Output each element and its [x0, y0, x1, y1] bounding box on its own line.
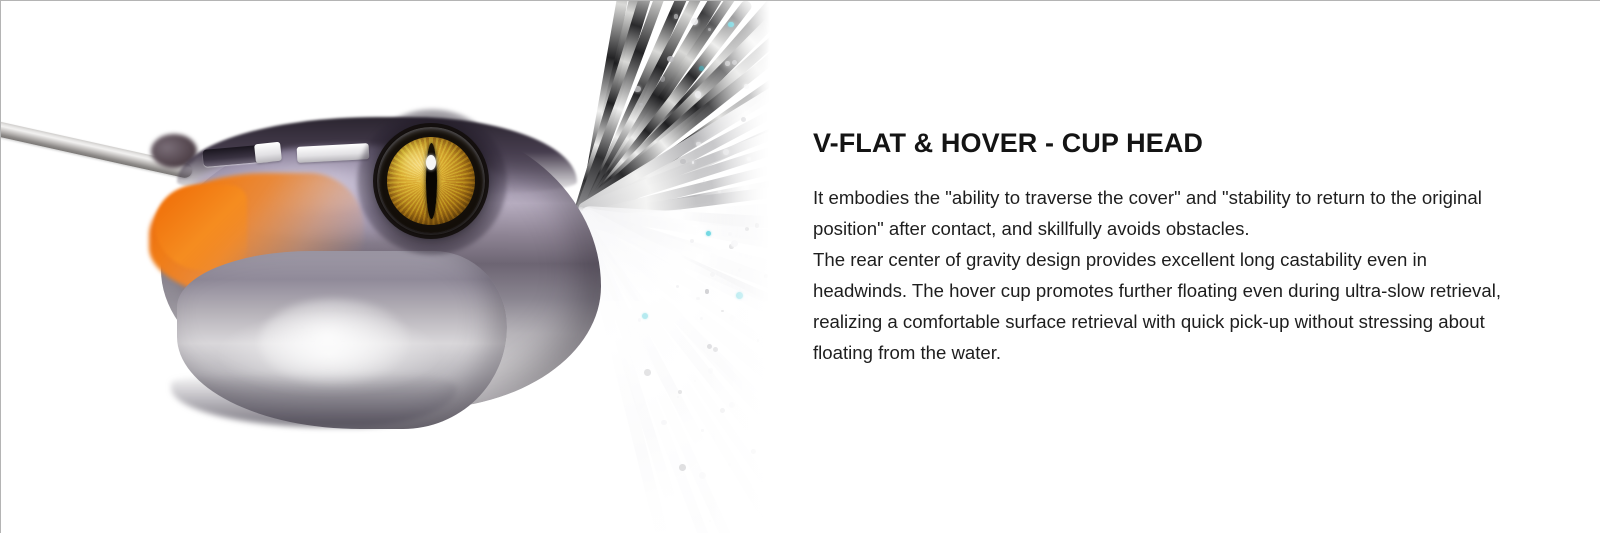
product-photo-stage — [1, 1, 786, 533]
skirt-silver-flake — [674, 14, 679, 19]
skirt-silver-flake — [751, 449, 756, 454]
head-vent-highlight — [254, 142, 282, 164]
page-title: V-FLAT & HOVER - CUP HEAD — [813, 129, 1600, 159]
skirt-silver-flake — [667, 56, 673, 62]
skirt-silver-flake — [744, 84, 749, 89]
skirt-silver-flake — [718, 190, 721, 193]
skirt-silver-flake — [747, 157, 751, 161]
skirt-silver-flake — [696, 142, 701, 147]
product-feature-section: V-FLAT & HOVER - CUP HEAD It embodies th… — [0, 0, 1600, 533]
cup-head-body — [151, 111, 621, 431]
skirt-teal-flake — [736, 292, 743, 299]
skirt-silver-flake — [638, 318, 642, 322]
skirt-silver-flake — [769, 444, 775, 450]
skirt-silver-flake — [678, 390, 682, 394]
description-paragraph-2: The rear center of gravity design provid… — [813, 244, 1518, 368]
skirt-silver-flake — [639, 103, 643, 107]
skirt-silver-flake — [701, 429, 704, 432]
skirt-teal-flake — [699, 66, 704, 71]
skirt-silver-flake — [699, 472, 706, 479]
skirt-silver-flake — [757, 339, 759, 341]
product-photo — [1, 1, 786, 533]
skirt-silver-flake — [660, 76, 665, 81]
skirt-silver-flake — [677, 396, 679, 398]
skirt-silver-flake — [707, 344, 712, 349]
skirt-silver-flake — [731, 240, 738, 247]
skirt-silver-flake — [738, 268, 742, 272]
skirt-silver-flake — [725, 61, 730, 66]
lure-eye — [379, 129, 483, 233]
skirt-silver-flake — [721, 310, 724, 313]
skirt-teal-flake — [728, 22, 734, 28]
description-paragraph-1: It embodies the "ability to traverse the… — [813, 182, 1518, 244]
skirt-silver-flake — [709, 520, 711, 522]
skirt-silver-flake — [710, 272, 715, 277]
skirt-silver-flake — [661, 420, 666, 425]
eye-glint — [426, 155, 436, 170]
skirt-silver-flake — [728, 463, 731, 466]
skirt-silver-flake — [692, 161, 695, 164]
skirt-silver-flake — [695, 91, 702, 98]
skirt-silver-flake — [720, 408, 725, 413]
skirt-silver-flake — [644, 369, 651, 376]
cup-specular-highlight — [259, 299, 409, 385]
description-panel: V-FLAT & HOVER - CUP HEAD It embodies th… — [786, 1, 1600, 533]
skirt-silver-flake — [679, 464, 686, 471]
description-body: It embodies the "ability to traverse the… — [813, 182, 1518, 368]
skirt-silver-flake — [705, 289, 709, 293]
skirt-silver-flake — [634, 86, 641, 93]
